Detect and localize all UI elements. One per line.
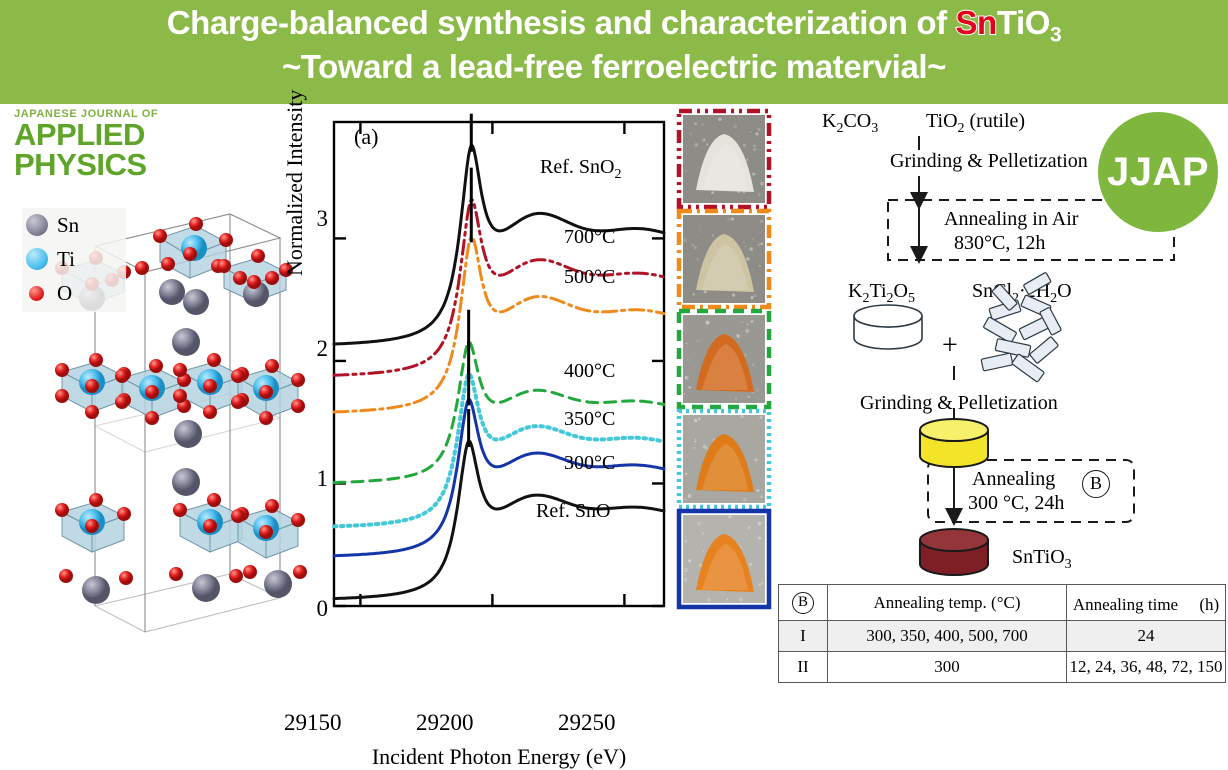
journal-logo-line2: APPLIED (14, 120, 182, 150)
graphical-abstract-page: Charge-balanced synthesis and characteri… (0, 0, 1228, 668)
chart-plot-area (288, 108, 684, 708)
crystal-legend: Sn Ti O (22, 208, 126, 312)
legend-item: Ti (22, 242, 126, 276)
journal-logo: JAPANESE JOURNAL OF APPLIED PHYSICS (14, 108, 182, 184)
title-text-tio: TiO (997, 4, 1050, 41)
chart-xtick-0: 29150 (284, 710, 342, 736)
journal-logo-line3: PHYSICS (14, 150, 182, 180)
chart-series-label-350c: 350°C (564, 408, 615, 431)
photo-strip-svg (676, 108, 772, 618)
chart-series-label-400c: 400°C (564, 360, 615, 383)
chart-xtick-2: 29250 (558, 710, 616, 736)
chart-ytick-0: 0 (310, 596, 328, 622)
chart-ytick-3: 3 (310, 206, 328, 232)
chart-series-label-500c: 500°C (564, 266, 615, 289)
chart-panel-tag: (a) (354, 124, 378, 150)
title-subscript-3: 3 (1050, 24, 1061, 47)
title-text-prefix: Charge-balanced synthesis and characteri… (167, 4, 956, 41)
powder-700C (679, 111, 769, 207)
jjap-badge: JJAP (1098, 112, 1218, 232)
annealing-conditions-table: B Annealing temp. (°C) Annealing time (h… (778, 584, 1226, 683)
title-line-1: Charge-balanced synthesis and characteri… (0, 4, 1228, 48)
legend-label-sn: Sn (57, 213, 79, 238)
legend-item: Sn (22, 208, 126, 242)
sphere-icon (29, 286, 44, 301)
table-cell-temp: 300 (828, 652, 1067, 683)
powder-350C (679, 411, 769, 507)
chart-xtick-1: 29200 (416, 710, 474, 736)
table-header-time: Annealing time (h) (1067, 585, 1226, 621)
powder-400C (679, 311, 769, 407)
title-sn-highlight: Sn (955, 4, 996, 41)
title-line-2: ~Toward a lead-free ferroelectric materv… (0, 48, 1228, 86)
title-banner: Charge-balanced synthesis and characteri… (0, 0, 1228, 104)
legend-label-o: O (57, 281, 72, 306)
legend-item: O (22, 276, 126, 310)
sphere-icon (26, 214, 48, 236)
table-cell-time: 24 (1067, 621, 1226, 652)
powder-500C (679, 211, 769, 307)
table-row: I 300, 350, 400, 500, 700 24 (779, 621, 1226, 652)
chart-series-label-ref-sno2: Ref. SnO2 (540, 156, 621, 183)
chart-series-label-700c: 700°C (564, 226, 615, 249)
table-cell-time: 12, 24, 36, 48, 72, 150 (1067, 652, 1226, 683)
sphere-icon (26, 248, 48, 270)
table-cell-temp: 300, 350, 400, 500, 700 (828, 621, 1067, 652)
sample-photo-strip (676, 108, 772, 608)
xas-chart: Normalized Intensity (a) Incident Photon… (288, 108, 684, 666)
table-cell-id: I (779, 621, 828, 652)
table-row: II 300 12, 24, 36, 48, 72, 150 (779, 652, 1226, 683)
table-cell-id: II (779, 652, 828, 683)
table-header-id: B (779, 585, 828, 621)
chart-ytick-1: 1 (310, 466, 328, 492)
chart-series-label-300c: 300°C (564, 452, 615, 475)
table-header-temp: Annealing temp. (°C) (828, 585, 1067, 621)
chart-ytick-2: 2 (310, 336, 328, 362)
table-header-row: B Annealing temp. (°C) Annealing time (h… (779, 585, 1226, 621)
chart-series-label-ref-sno: Ref. SnO (536, 500, 610, 523)
chart-y-axis-label: Normalized Intensity (282, 90, 308, 276)
legend-label-ti: Ti (57, 247, 75, 272)
powder-300C (679, 511, 769, 607)
chart-x-axis-label: Incident Photon Energy (eV) (334, 744, 664, 770)
